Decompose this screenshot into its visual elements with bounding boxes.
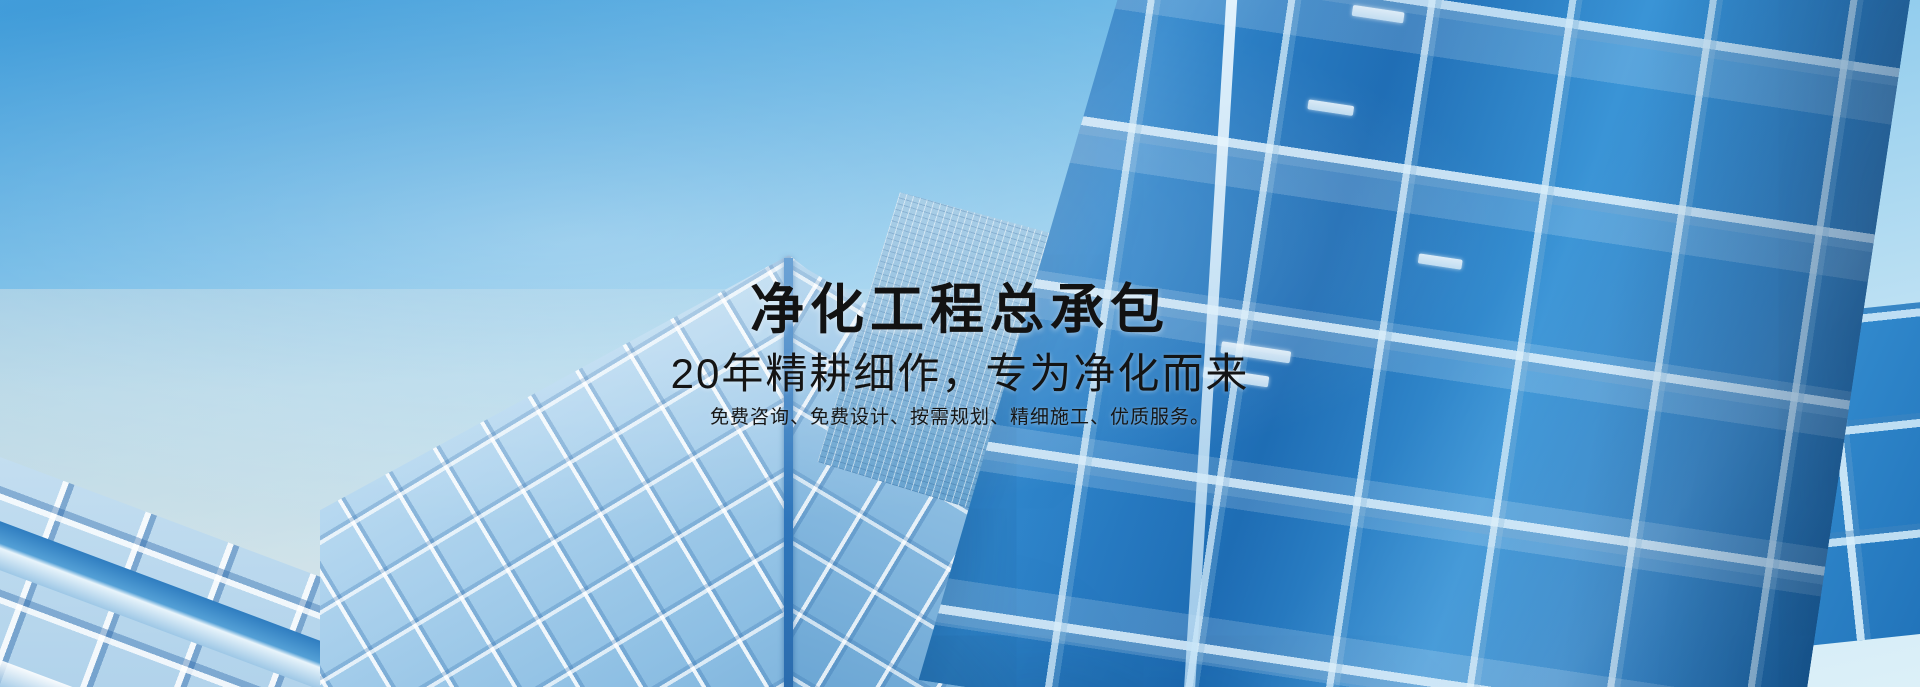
banner-copy-block: 净化工程总承包 20年精耕细作，专为净化而来 免费咨询、免费设计、按需规划、精细…	[0, 282, 1920, 430]
hero-banner: 净化工程总承包 20年精耕细作，专为净化而来 免费咨询、免费设计、按需规划、精细…	[0, 0, 1920, 687]
banner-tagline: 免费咨询、免费设计、按需规划、精细施工、优质服务。	[0, 407, 1920, 430]
banner-subheadline: 20年精耕细作，专为净化而来	[0, 351, 1920, 397]
banner-headline: 净化工程总承包	[0, 282, 1920, 339]
